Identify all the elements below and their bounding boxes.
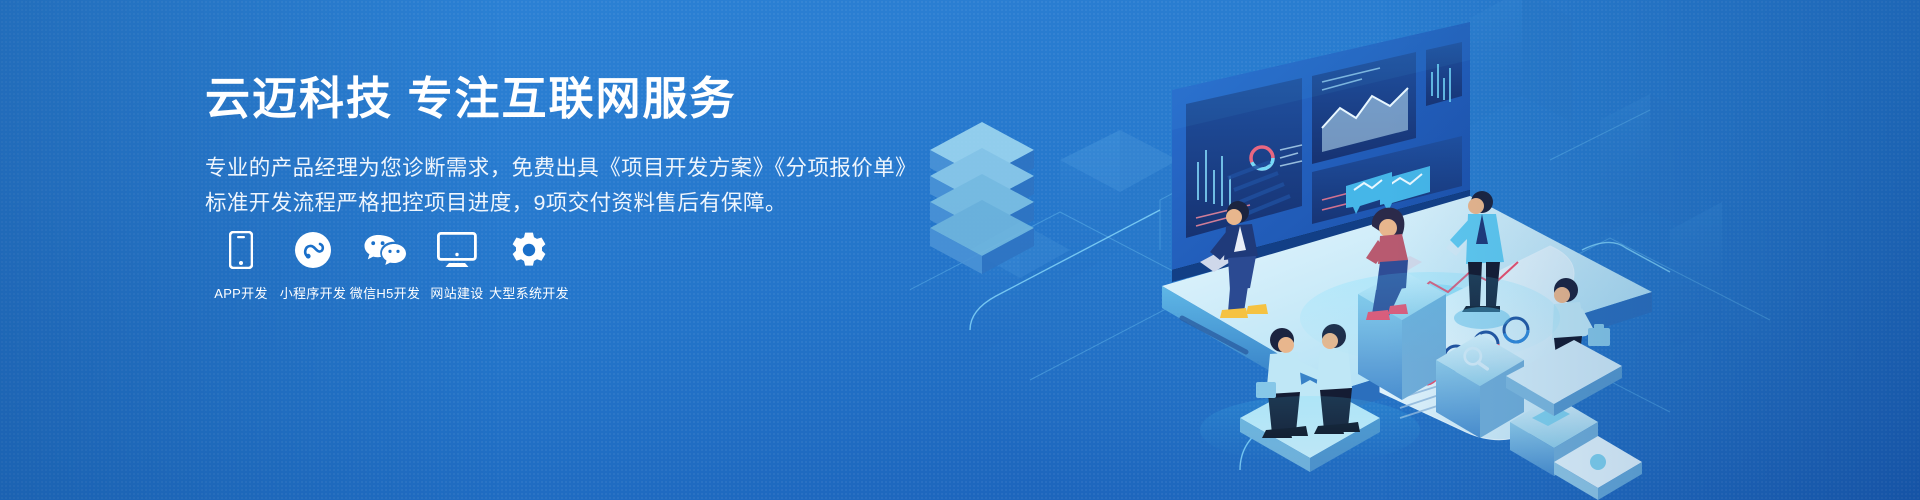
mobile-phone-icon — [229, 230, 253, 270]
hero-copy: 云迈科技 专注互联网服务 专业的产品经理为您诊断需求，免费出具《项目开发方案》《… — [205, 72, 965, 221]
service-item-mini-program[interactable]: 小程序开发 — [277, 230, 349, 302]
service-item-website[interactable]: 网站建设 — [421, 230, 493, 302]
service-list: APP开发 小程序开发 — [205, 230, 565, 302]
service-label: 大型系统开发 — [489, 283, 569, 302]
monitor-icon — [437, 230, 477, 270]
service-label: 小程序开发 — [280, 283, 347, 302]
subtitle-line-1: 专业的产品经理为您诊断需求，免费出具《项目开发方案》《分项报价单》 — [205, 151, 965, 186]
hero-subtitle: 专业的产品经理为您诊断需求，免费出具《项目开发方案》《分项报价单》 标准开发流程… — [205, 151, 965, 221]
mini-program-icon — [294, 230, 332, 270]
hero-illustration — [910, 0, 1920, 500]
service-label: 微信H5开发 — [350, 283, 420, 302]
service-label: 网站建设 — [430, 283, 483, 302]
wechat-icon — [363, 230, 407, 270]
service-item-large-system[interactable]: 大型系统开发 — [493, 230, 565, 302]
service-item-wechat-h5[interactable]: 微信H5开发 — [349, 230, 421, 302]
hero-banner: 云迈科技 专注互联网服务 专业的产品经理为您诊断需求，免费出具《项目开发方案》《… — [0, 0, 1920, 500]
subtitle-line-2: 标准开发流程严格把控项目进度，9项交付资料售后有保障。 — [205, 186, 965, 221]
service-label: APP开发 — [214, 283, 268, 302]
page-title: 云迈科技 专注互联网服务 — [205, 72, 965, 125]
service-item-app[interactable]: APP开发 — [205, 230, 277, 302]
gear-icon — [510, 230, 548, 270]
